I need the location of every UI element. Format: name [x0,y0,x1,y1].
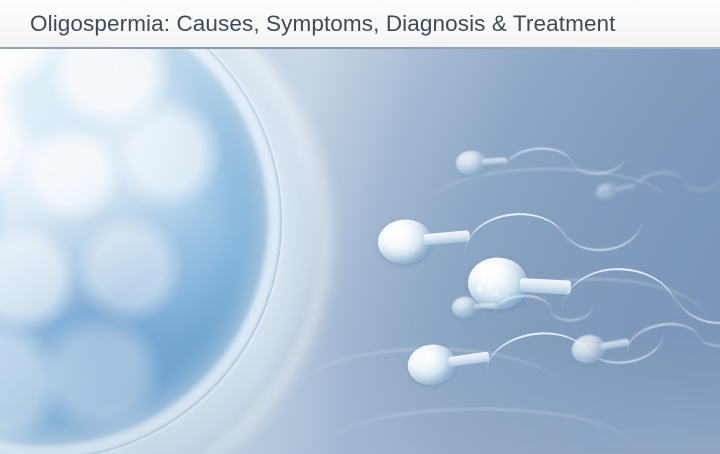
sperm-bottom-left-midpiece [448,351,490,367]
ovum-outer-halo [0,48,332,454]
tail-wisp [330,408,630,446]
sperm-top-right [455,142,598,176]
sperm-upper-left-tail-tip [562,218,643,254]
sperm-far-right-faint-tail [629,166,685,195]
oligospermia-banner: Oligospermia: Causes, Symptoms, Diagnosi… [0,0,720,454]
sperm-bottom-right-midpiece [600,338,630,350]
header-divider [0,47,720,49]
sperm-bottom-right-tail [623,318,700,355]
sperm-small-mid-midpiece [474,302,496,309]
sperm-upper-left-tail [462,209,567,255]
sperm-far-right-faint-midpiece [614,184,633,192]
header-band: Oligospermia: Causes, Symptoms, Diagnosi… [0,0,720,48]
sperm-small-mid-tail [493,293,551,315]
sperm-upper-left-midpiece [424,230,471,245]
page-title: Oligospermia: Causes, Symptoms, Diagnosi… [30,13,616,36]
sperm-top-right-midpiece [482,157,508,165]
sperm-far-right-faint-head [594,181,619,202]
sperm-small-mid-tail-tip [549,305,594,322]
ovum-egg-cell [0,48,282,454]
sperm-far-right-faint-tail-tip [682,172,720,194]
sperm-top-right-tail-tip [571,156,626,177]
illustration-photo [0,48,720,454]
sperm-bottom-right-tail-tip [697,322,720,351]
sperm-top-right-tail [503,145,574,171]
